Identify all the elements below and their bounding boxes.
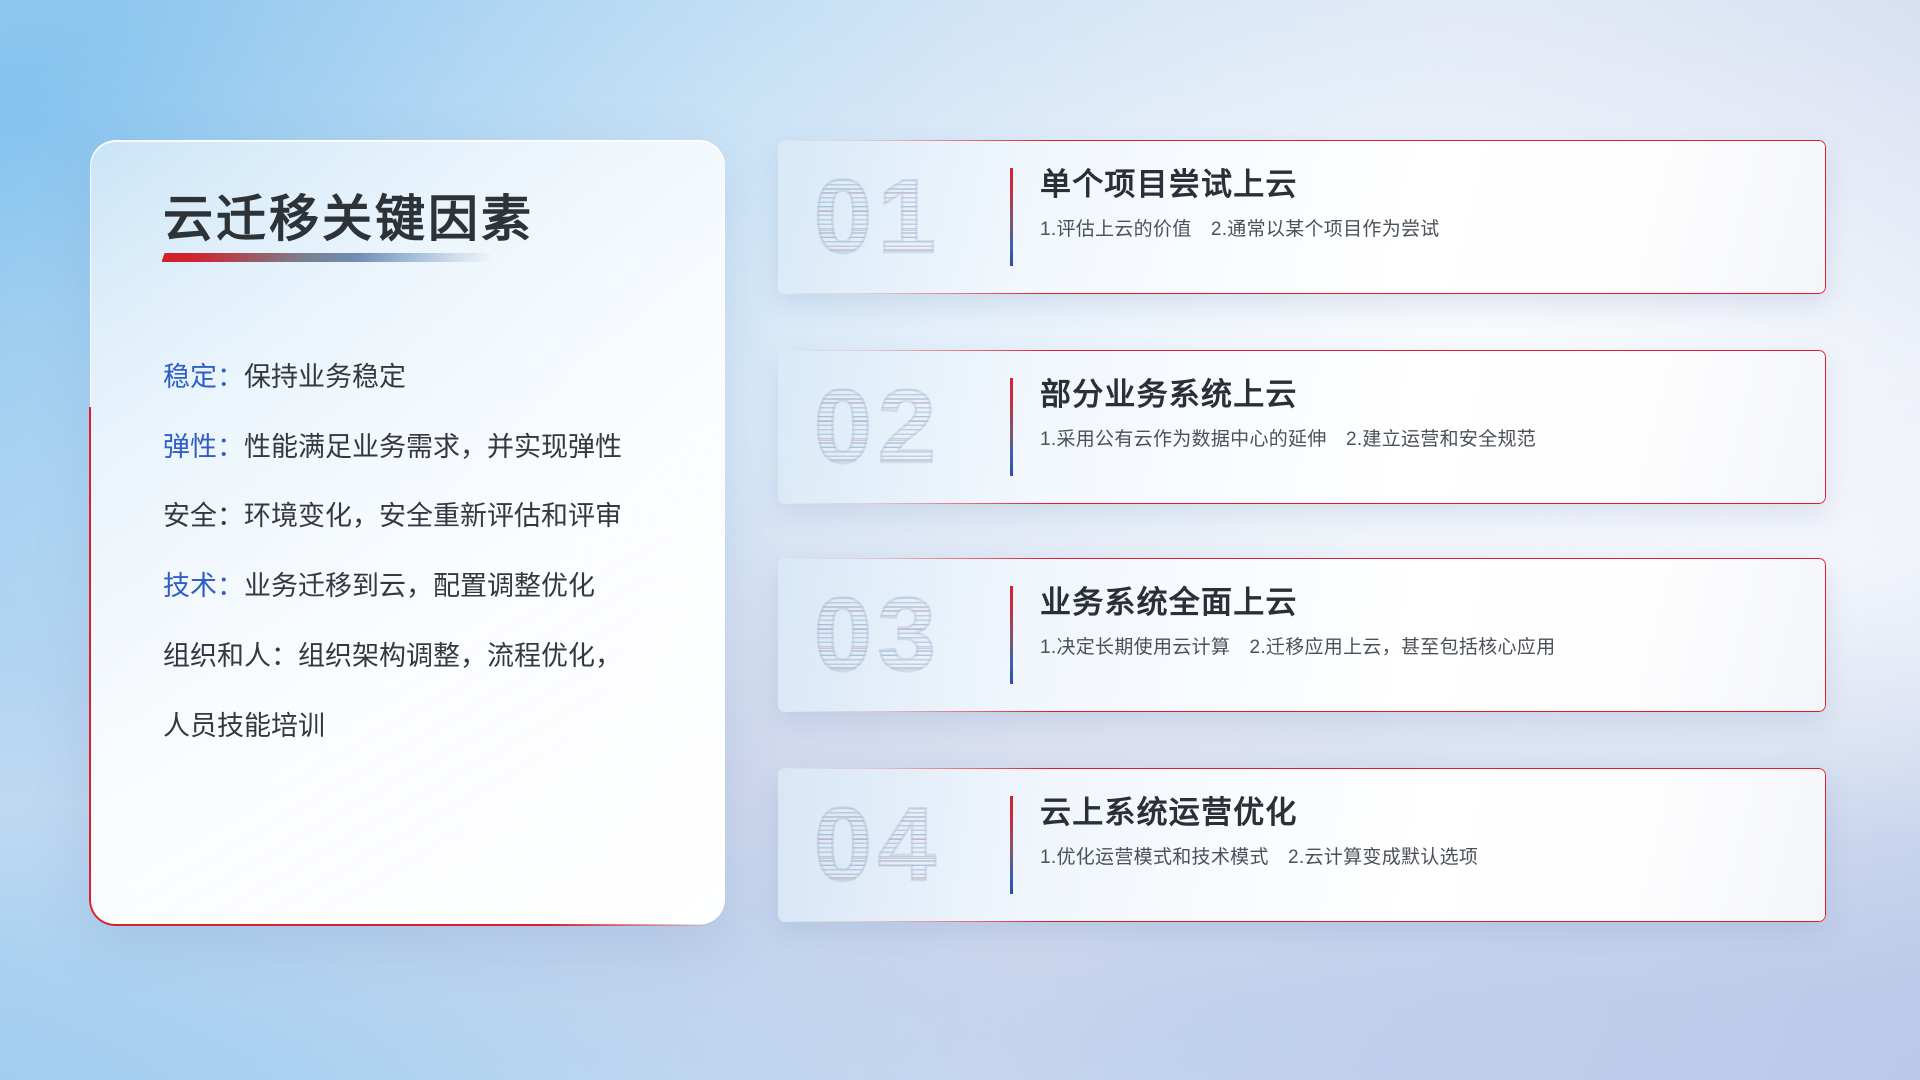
list-item: 组织和人：组织架构调整，流程优化， <box>163 635 663 679</box>
migration-steps-list: 01 单个项目尝试上云 1.评估上云的价值 2.通常以某个项目作为尝试 02 部… <box>778 0 1838 1080</box>
step-card[interactable]: 03 业务系统全面上云 1.决定长期使用云计算 2.迁移应用上云，甚至包括核心应… <box>778 558 1826 712</box>
step-title: 业务系统全面上云 <box>1040 584 1800 623</box>
step-accent-divider <box>1010 586 1013 684</box>
step-content: 业务系统全面上云 1.决定长期使用云计算 2.迁移应用上云，甚至包括核心应用 <box>1040 584 1800 661</box>
factor-text: 保持业务稳定 <box>244 362 406 392</box>
factor-text: 组织架构调整，流程优化， <box>298 641 622 671</box>
factor-label: 稳定： <box>163 362 244 392</box>
step-number-ghost: 01 <box>814 165 942 269</box>
step-card[interactable]: 01 单个项目尝试上云 1.评估上云的价值 2.通常以某个项目作为尝试 <box>778 140 1826 294</box>
factor-text: 性能满足业务需求，并实现弹性 <box>244 432 622 462</box>
factor-label: 弹性： <box>163 432 244 462</box>
factor-text: 环境变化，安全重新评估和评审 <box>244 501 622 531</box>
step-accent-divider <box>1010 168 1013 266</box>
step-number-ghost: 04 <box>814 793 942 897</box>
step-content: 云上系统运营优化 1.优化运营模式和技术模式 2.云计算变成默认选项 <box>1040 794 1800 871</box>
list-item: 安全：环境变化，安全重新评估和评审 <box>163 495 663 539</box>
key-factors-panel: 云迁移关键因素 稳定：保持业务稳定 弹性：性能满足业务需求，并实现弹性 安全：环… <box>90 140 725 925</box>
page-title: 云迁移关键因素 <box>163 179 534 251</box>
step-title: 单个项目尝试上云 <box>1040 166 1800 205</box>
list-item: 技术：业务迁移到云，配置调整优化 <box>163 565 663 609</box>
list-item: 弹性：性能满足业务需求，并实现弹性 <box>163 426 663 470</box>
factor-label: 组织和人： <box>163 641 298 671</box>
step-content: 单个项目尝试上云 1.评估上云的价值 2.通常以某个项目作为尝试 <box>1040 166 1800 243</box>
title-gradient-rule <box>162 253 495 262</box>
step-accent-divider <box>1010 378 1013 476</box>
step-title: 部分业务系统上云 <box>1040 376 1800 415</box>
step-card[interactable]: 04 云上系统运营优化 1.优化运营模式和技术模式 2.云计算变成默认选项 <box>778 768 1826 922</box>
step-number-ghost: 03 <box>814 583 942 687</box>
factor-label: 技术： <box>163 571 244 601</box>
step-points: 1.决定长期使用云计算 2.迁移应用上云，甚至包括核心应用 <box>1040 635 1800 662</box>
factor-label: 安全： <box>163 501 244 531</box>
factor-list: 稳定：保持业务稳定 弹性：性能满足业务需求，并实现弹性 安全：环境变化，安全重新… <box>163 356 663 774</box>
step-points: 1.采用公有云作为数据中心的延伸 2.建立运营和安全规范 <box>1040 427 1800 454</box>
list-item: 人员技能培训 <box>163 705 663 749</box>
list-item: 稳定：保持业务稳定 <box>163 356 663 400</box>
step-card[interactable]: 02 部分业务系统上云 1.采用公有云作为数据中心的延伸 2.建立运营和安全规范 <box>778 350 1826 504</box>
step-number-ghost: 02 <box>814 375 942 479</box>
step-title: 云上系统运营优化 <box>1040 794 1800 833</box>
step-points: 1.评估上云的价值 2.通常以某个项目作为尝试 <box>1040 217 1800 244</box>
factor-text: 业务迁移到云，配置调整优化 <box>244 571 595 601</box>
factor-text: 人员技能培训 <box>163 711 325 741</box>
step-points: 1.优化运营模式和技术模式 2.云计算变成默认选项 <box>1040 845 1800 872</box>
step-content: 部分业务系统上云 1.采用公有云作为数据中心的延伸 2.建立运营和安全规范 <box>1040 376 1800 453</box>
step-accent-divider <box>1010 796 1013 894</box>
